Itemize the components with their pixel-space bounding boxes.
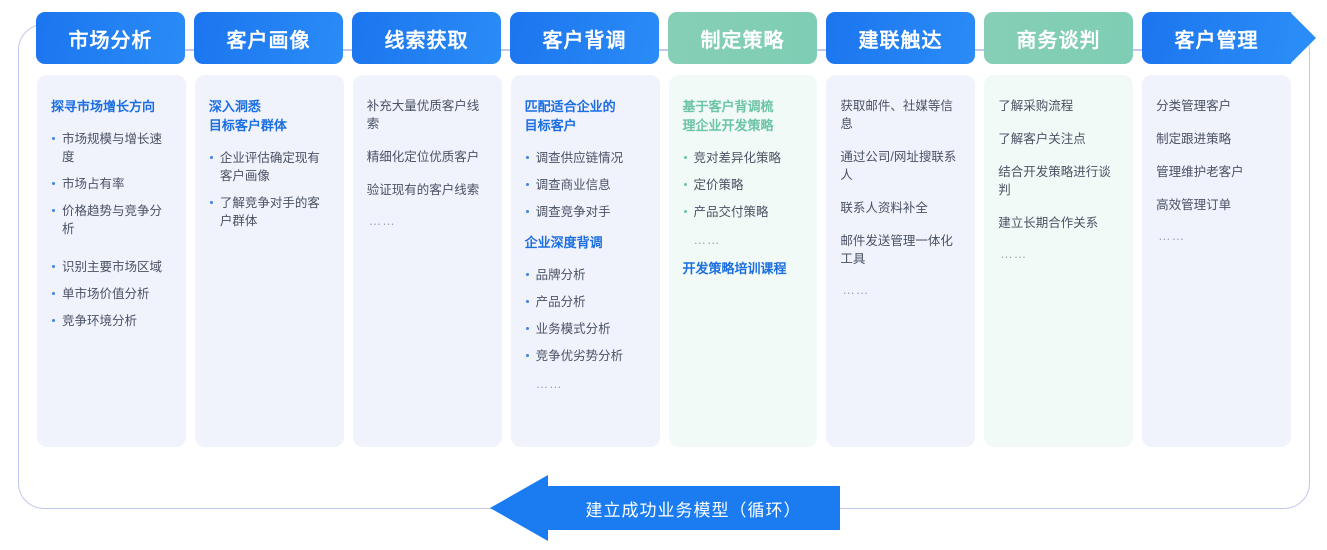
list-item: 了解客户关注点 [998,130,1119,148]
card-list: 补充大量优质客户线索精细化定位优质客户验证现有的客户线索 [367,97,488,199]
card-list: 识别主要市场区域单市场价值分析竞争环境分析 [51,258,172,330]
list-item: 调查竞争对手 [525,203,646,221]
stage-tab-6[interactable]: 建联触达 [826,12,975,64]
list-item: 补充大量优质客户线索 [367,97,488,133]
card-list: 市场规模与增长速度市场占有率价格趋势与竞争分析 [51,130,172,238]
list-item: 验证现有的客户线索 [367,181,488,199]
card-list: 调查供应链情况调查商业信息调查竞争对手 [525,149,646,221]
stage-tab-1[interactable]: 市场分析 [36,12,185,64]
list-item: 制定跟进策略 [1156,130,1277,148]
list-item: 通过公司/网址搜联系人 [840,148,961,184]
stage-card-1: 探寻市场增长方向市场规模与增长速度市场占有率价格趋势与竞争分析识别主要市场区域单… [37,75,186,447]
list-item: 企业评估确定现有客户画像 [209,149,330,185]
list-item: 管理维护老客户 [1156,163,1277,181]
tab-connector-line [1133,49,1142,51]
card-heading: 深入洞悉 目标客户群体 [209,97,330,135]
list-item: 市场占有率 [51,175,172,193]
list-item: 分类管理客户 [1156,97,1277,115]
ellipsis-text: …… [536,377,646,391]
arrow-left-icon [490,475,548,541]
card-list: 分类管理客户制定跟进策略管理维护老客户高效管理订单 [1156,97,1277,214]
spacer [51,250,172,258]
stage-tab-label: 客户管理 [1175,24,1259,53]
stage-card-3: 补充大量优质客户线索精细化定位优质客户验证现有的客户线索…… [353,75,502,447]
stage-tab-2[interactable]: 客户画像 [194,12,343,64]
list-item: 获取邮件、社媒等信息 [840,97,961,133]
stage-tab-label: 市场分析 [69,24,153,53]
stage-tab-row: 市场分析客户画像线索获取客户背调制定策略建联触达商务谈判客户管理 [36,12,1292,64]
ellipsis-text: …… [694,233,804,247]
stage-tab-label: 建联触达 [859,24,943,53]
stage-tab-5[interactable]: 制定策略 [668,12,817,64]
list-item: 市场规模与增长速度 [51,130,172,166]
list-item: 产品交付策略 [683,203,804,221]
stage-card-7: 了解采购流程了解客户关注点结合开发策略进行谈判建立长期合作关系…… [984,75,1133,447]
stage-tab-label: 客户画像 [227,24,311,53]
tab-connector-line [501,49,510,51]
stage-card-6: 获取邮件、社媒等信息通过公司/网址搜联系人联系人资料补全邮件发送管理一体化工具…… [826,75,975,447]
list-item: 产品分析 [525,293,646,311]
list-item: 价格趋势与竞争分析 [51,202,172,238]
stage-tab-4[interactable]: 客户背调 [510,12,659,64]
list-item: 了解采购流程 [998,97,1119,115]
stage-card-row: 探寻市场增长方向市场规模与增长速度市场占有率价格趋势与竞争分析识别主要市场区域单… [37,75,1291,447]
stage-tab-3[interactable]: 线索获取 [352,12,501,64]
card-list: 竞对差异化策略定价策略产品交付策略 [683,149,804,221]
list-item: 业务模式分析 [525,320,646,338]
tab-connector-line [975,49,984,51]
list-item: 了解竞争对手的客户群体 [209,194,330,230]
list-item: 竞对差异化策略 [683,149,804,167]
stage-tab-label: 客户背调 [543,24,627,53]
card-heading: 匹配适合企业的 目标客户 [525,97,646,135]
cycle-arrow-label: 建立成功业务模型（循环） [547,486,840,530]
list-item: 定价策略 [683,176,804,194]
stage-card-8: 分类管理客户制定跟进策略管理维护老客户高效管理订单…… [1142,75,1291,447]
card-list: 了解采购流程了解客户关注点结合开发策略进行谈判建立长期合作关系 [998,97,1119,232]
process-flow-diagram: 市场分析客户画像线索获取客户背调制定策略建联触达商务谈判客户管理 探寻市场增长方… [0,0,1327,550]
list-item: 单市场价值分析 [51,285,172,303]
list-item: 竞争优劣势分析 [525,347,646,365]
ellipsis-text: …… [369,214,488,228]
stage-tab-label: 制定策略 [701,24,785,53]
stage-card-5: 基于客户背调梳 理企业开发策略竞对差异化策略定价策略产品交付策略……开发策略培训… [669,75,818,447]
list-item: 结合开发策略进行谈判 [998,163,1119,199]
tab-connector-line [659,49,668,51]
list-item: 联系人资料补全 [840,199,961,217]
stage-tab-7[interactable]: 商务谈判 [984,12,1133,64]
list-item: 建立长期合作关系 [998,214,1119,232]
tab-connector-line [817,49,826,51]
ellipsis-text: …… [1158,229,1277,243]
stage-card-2: 深入洞悉 目标客户群体企业评估确定现有客户画像了解竞争对手的客户群体 [195,75,344,447]
list-item: 品牌分析 [525,266,646,284]
card-heading: 开发策略培训课程 [683,259,804,278]
stage-tab-8[interactable]: 客户管理 [1142,12,1291,64]
ellipsis-text: …… [1000,247,1119,261]
tab-connector-line [343,49,352,51]
list-item: 识别主要市场区域 [51,258,172,276]
stage-card-4: 匹配适合企业的 目标客户调查供应链情况调查商业信息调查竞争对手企业深度背调品牌分… [511,75,660,447]
list-item: 调查供应链情况 [525,149,646,167]
list-item: 调查商业信息 [525,176,646,194]
ellipsis-text: …… [842,283,961,297]
card-heading: 企业深度背调 [525,233,646,252]
cycle-arrow-banner: 建立成功业务模型（循环） [490,475,840,541]
list-item: 精细化定位优质客户 [367,148,488,166]
list-item: 竞争环境分析 [51,312,172,330]
card-heading: 探寻市场增长方向 [51,97,172,116]
card-list: 企业评估确定现有客户画像了解竞争对手的客户群体 [209,149,330,230]
list-item: 邮件发送管理一体化工具 [840,232,961,268]
list-item: 高效管理订单 [1156,196,1277,214]
card-heading: 基于客户背调梳 理企业开发策略 [683,97,804,135]
tab-connector-line [185,49,194,51]
card-list: 品牌分析产品分析业务模式分析竞争优劣势分析 [525,266,646,365]
card-list: 获取邮件、社媒等信息通过公司/网址搜联系人联系人资料补全邮件发送管理一体化工具 [840,97,961,268]
stage-tab-label: 商务谈判 [1017,24,1101,53]
stage-tab-label: 线索获取 [385,24,469,53]
